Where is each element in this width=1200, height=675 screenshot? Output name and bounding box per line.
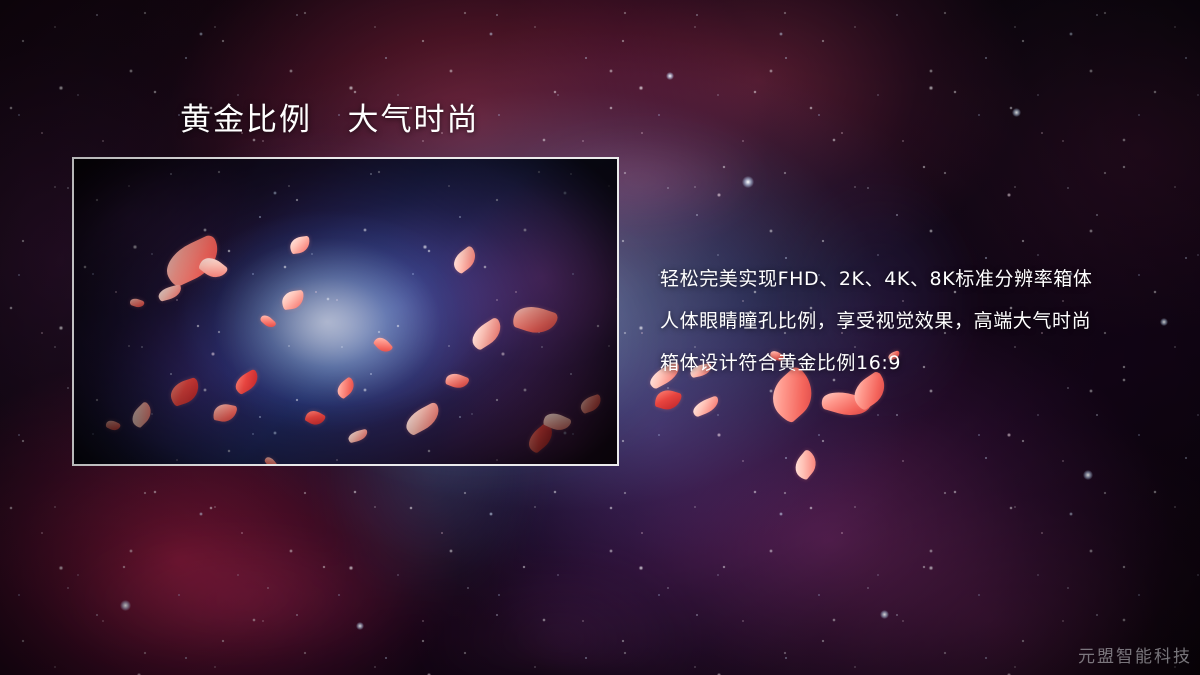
body-line: 箱体设计符合黄金比例16:9 — [660, 342, 1160, 384]
bright-star — [120, 600, 131, 611]
panel-vignette — [74, 159, 617, 464]
body-line: 轻松完美实现FHD、2K、4K、8K标准分辨率箱体 — [660, 258, 1160, 300]
bright-star — [1083, 470, 1093, 480]
framed-image-panel — [72, 157, 619, 466]
body-copy: 轻松完美实现FHD、2K、4K、8K标准分辨率箱体 人体眼睛瞳孔比例，享受视觉效… — [660, 258, 1160, 384]
bright-star — [1012, 108, 1021, 117]
body-line: 人体眼睛瞳孔比例，享受视觉效果，高端大气时尚 — [660, 300, 1160, 342]
bright-star — [742, 176, 754, 188]
bright-star — [1160, 318, 1168, 326]
page-title: 黄金比例 大气时尚 — [180, 100, 480, 140]
bright-star — [880, 610, 889, 619]
presentation-slide: 黄金比例 大气时尚 轻松完美实现FHD、2K、4K、8K标准分辨率箱体 人体眼睛… — [0, 0, 1200, 675]
bright-star — [356, 622, 364, 630]
bright-star — [666, 72, 674, 80]
watermark: 元盟智能科技 — [1078, 642, 1192, 667]
